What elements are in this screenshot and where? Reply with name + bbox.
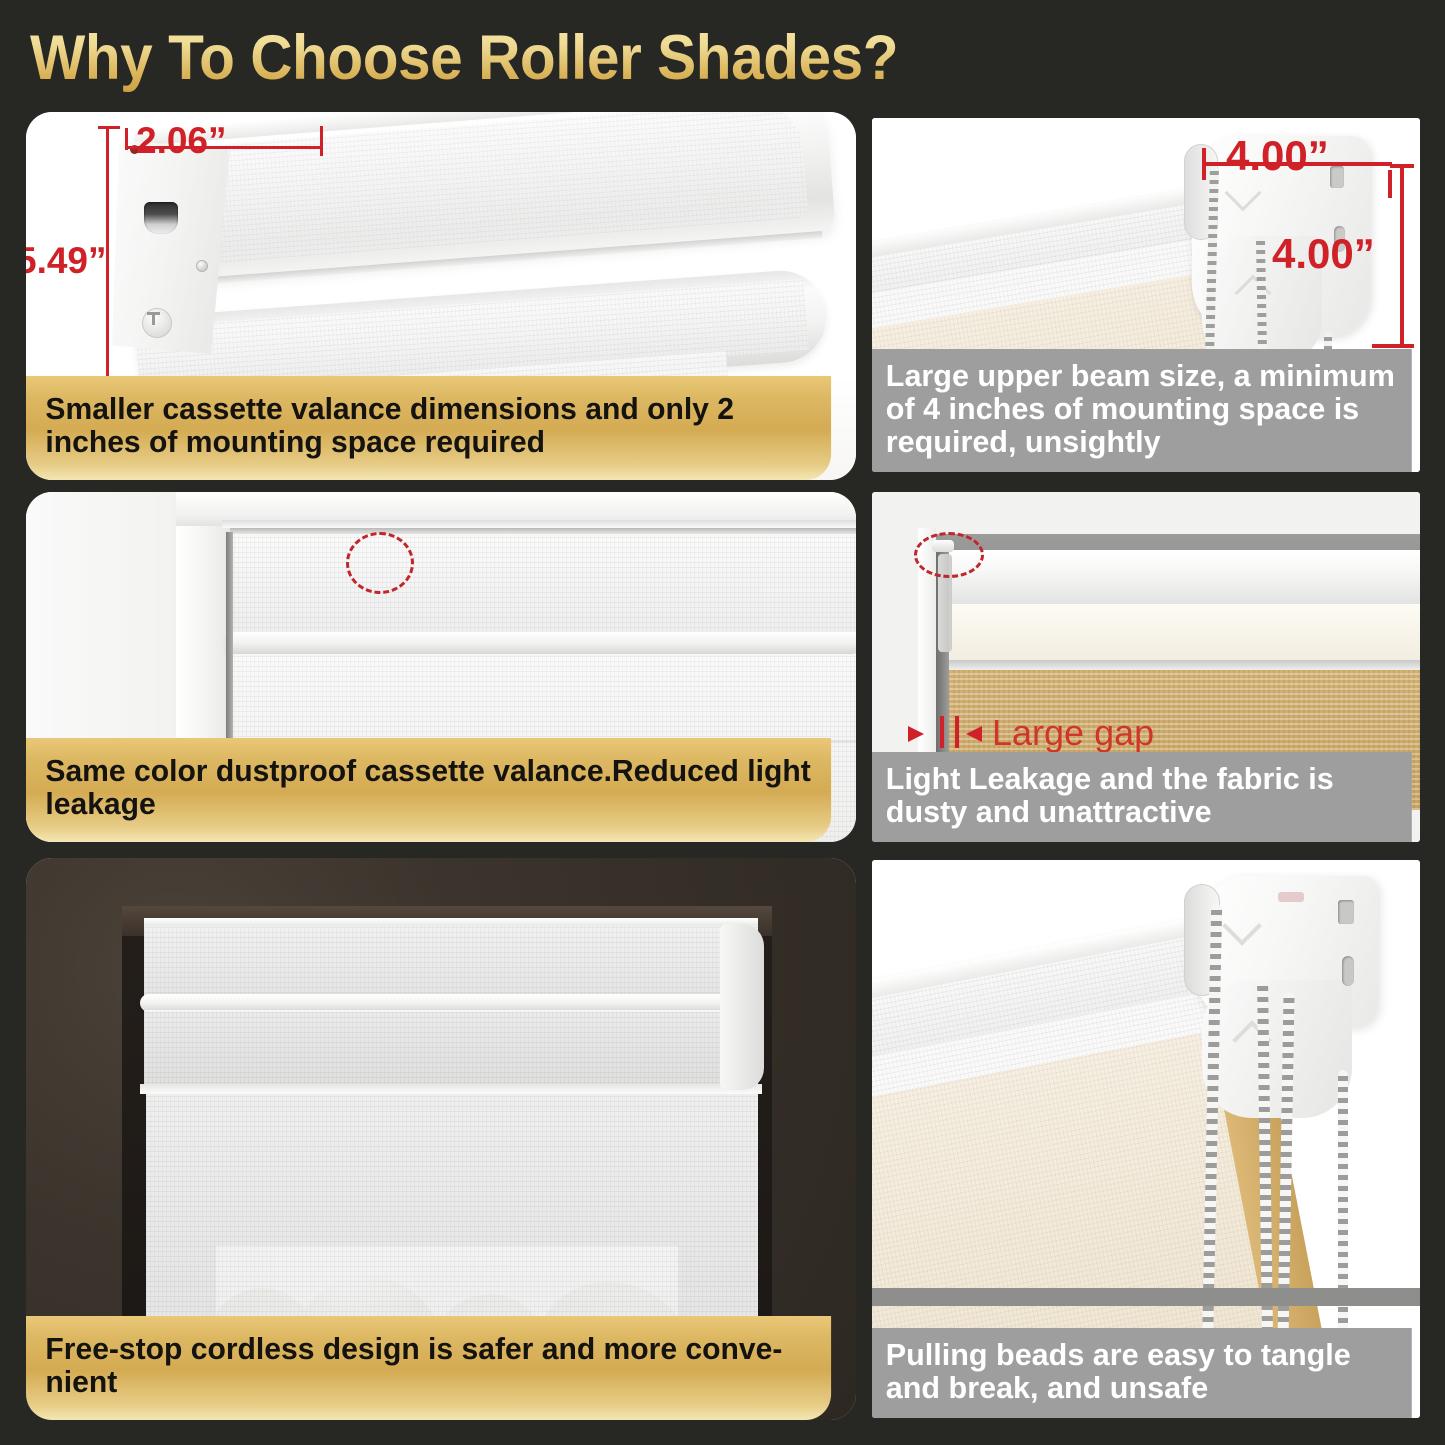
height-dimension-tick-top [1390,164,1414,168]
width-dimension-tick-right [320,126,323,156]
height-dimension-tick-top [98,126,120,129]
panel-pulling-beads: Pulling beads are easy to tangle and bre… [872,860,1420,1418]
height-dimension-label: 4.00” [1272,230,1375,278]
gap-arrow-right-icon [908,726,924,742]
panel-1-caption: Smaller cassette valance dimensions and … [26,376,831,480]
gap-tick-right [955,716,959,748]
panel-2-caption: Large upper beam size, a minimum of 4 in… [872,349,1412,472]
panel-5-caption: Free-stop cordless design is safer and m… [26,1316,831,1420]
width-dimension-label: 2.06” [136,120,227,162]
width-dimension-tick-right [1388,170,1392,198]
highlight-circle-icon [914,532,984,578]
panel-4-caption: Light Leakage and the fabric is dusty an… [872,752,1412,842]
width-dimension-tick-left [125,128,128,150]
panel-dustproof-valance: smaller gap Same color dustproof cassett… [26,492,856,842]
gap-arrow-left-icon [966,726,982,742]
page-title: Why To Choose Roller Shades? [30,18,960,98]
panel-large-upper-beam: 4.00” 4.00” Large upper beam size, a min… [872,118,1420,472]
panel-smaller-cassette: 2.06” 5.49” Smaller cassette valance dim… [26,112,856,480]
panel-cordless-design: Free-stop cordless design is safer and m… [26,858,856,1420]
height-dimension-tick-bottom [1372,344,1414,348]
width-dimension-tick-left [1202,148,1206,180]
gap-tick-left [940,716,944,748]
height-dimension-label: 5.49” [26,240,107,282]
panel-light-leakage: Large gap Light Leakage and the fabric i… [872,492,1420,842]
panel-6-caption: Pulling beads are easy to tangle and bre… [872,1328,1412,1418]
width-dimension-label: 4.00” [1226,132,1329,180]
gap-callout-label: Large gap [992,712,1154,754]
height-dimension-line [1400,164,1404,348]
highlight-circle-icon [346,532,414,594]
panel-3-caption: Same color dustproof cassette valance.Re… [26,738,831,842]
